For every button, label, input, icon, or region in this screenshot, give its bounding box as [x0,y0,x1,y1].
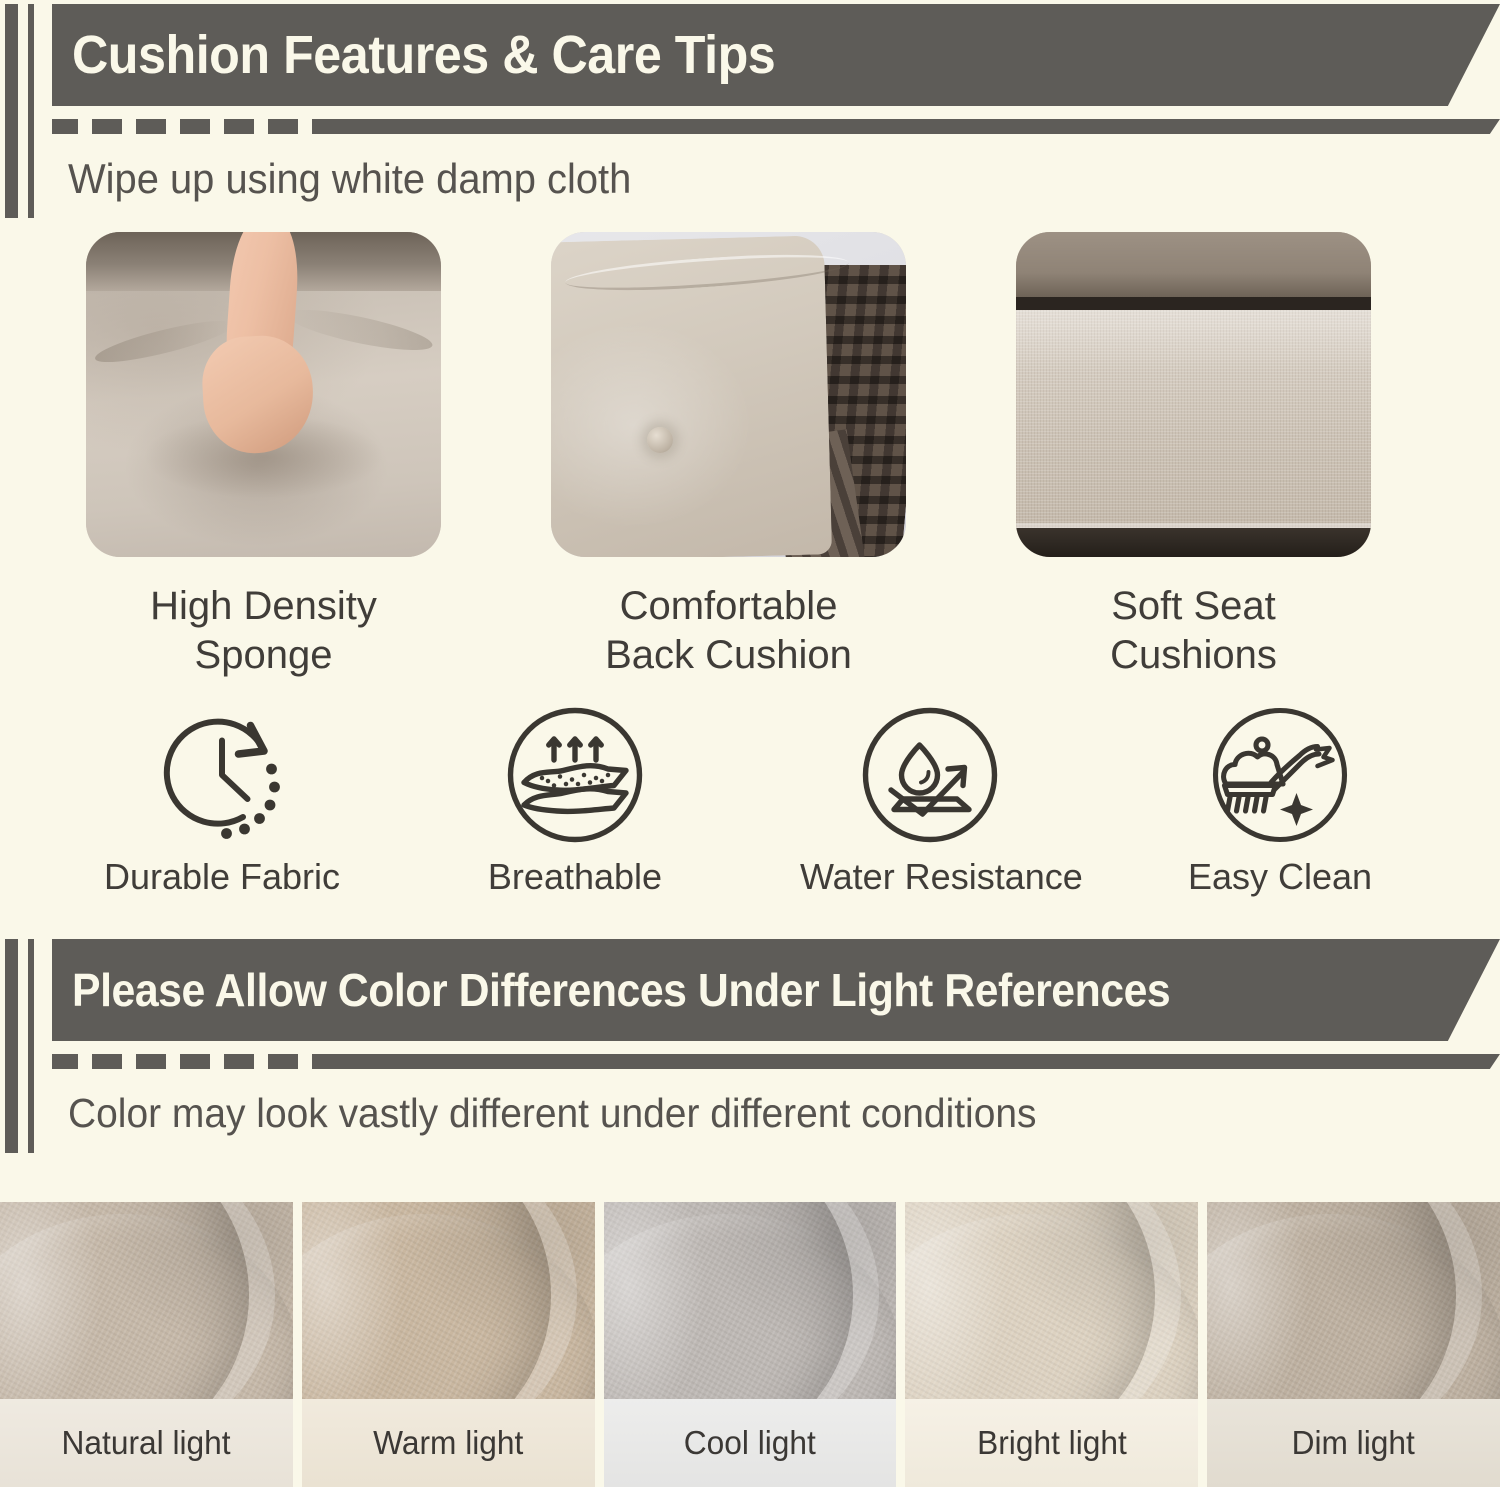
feature-caption-3: Soft Seat Cushions [1016,582,1371,680]
swatch-label-band-natural-light: Natural light [0,1399,293,1487]
swatch-label-cool-light: Cool light [684,1424,816,1462]
hand-pressing-cushion-photo [86,232,441,557]
dash-segment [136,1054,166,1069]
feature-icon-label-easy-clean: Easy Clean [1150,856,1410,898]
swatch-warm-light: Warm light [302,1202,595,1487]
swatch-cool-light: Cool light [604,1202,897,1487]
seat-cushion-fabric-photo [1016,232,1371,557]
feature-icon-item-durable-fabric: Durable Fabric [92,700,352,898]
dash-segment [224,1054,254,1069]
dash-segment [92,1054,122,1069]
swatch-label-bright-light: Bright light [977,1424,1127,1462]
swatch-fabric-warm-light [302,1202,595,1399]
swatch-fabric-dim-light [1207,1202,1500,1399]
swatch-label-band-bright-light: Bright light [905,1399,1198,1487]
feature-caption-3-line2: Cushions [1016,631,1371,680]
section-two-dash-divider [52,1054,1500,1069]
feature-icon-item-breathable: Breathable [445,700,705,898]
water-droplet-repel-icon [855,700,1005,850]
swatch-label-natural-light: Natural light [62,1424,231,1462]
swatch-natural-light: Natural light [0,1202,293,1487]
left-rail-thick-2 [5,939,18,1153]
section-two-banner: Please Allow Color Differences Under Lig… [52,939,1500,1041]
feature-icon-item-water-resistance: Water Resistance [800,700,1060,898]
infographic-page: Cushion Features & Care Tips Wipe up usi… [0,0,1500,1487]
dash-segment [224,119,254,134]
section-two-subtitle: Color may look vastly different under di… [68,1090,1037,1137]
swatch-label-dim-light: Dim light [1292,1424,1415,1462]
feature-caption-2-line2: Back Cushion [551,631,906,680]
swatch-label-warm-light: Warm light [373,1424,523,1462]
feature-caption-2: Comfortable Back Cushion [551,582,906,680]
feature-caption-3-line1: Soft Seat [1016,582,1371,631]
dash-solid-segment [312,119,1500,134]
swatch-label-band-cool-light: Cool light [604,1399,897,1487]
swatch-fabric-cool-light [604,1202,897,1399]
left-rail-thin-2 [28,939,34,1153]
dash-segment [52,119,78,134]
section-one-dash-divider [52,119,1500,134]
left-rail-thick [5,4,18,218]
swatch-dim-light: Dim light [1207,1202,1500,1487]
feature-icon-label-breathable: Breathable [445,856,705,898]
feature-photo-seat-cushion [1016,232,1371,557]
dash-segment [136,119,166,134]
dash-solid-segment [312,1054,1500,1069]
dash-segment [92,119,122,134]
section-one-banner-title: Cushion Features & Care Tips [72,24,775,86]
swatch-label-band-warm-light: Warm light [302,1399,595,1487]
swatch-label-band-dim-light: Dim light [1207,1399,1500,1487]
feature-caption-2-line1: Comfortable [551,582,906,631]
feature-icon-item-easy-clean: Easy Clean [1150,700,1410,898]
feature-caption-1-line2: Sponge [86,631,441,680]
breathable-layers-icon [500,700,650,850]
section-one-banner: Cushion Features & Care Tips [52,4,1500,106]
section-one-subtitle: Wipe up using white damp cloth [68,155,631,203]
tufted-back-cushion-photo [551,232,906,557]
dash-segment [180,1054,210,1069]
dash-segment [52,1054,78,1069]
color-swatch-strip: Natural light Warm light Cool light [0,1202,1500,1487]
swatch-bright-light: Bright light [905,1202,1198,1487]
swatch-fabric-natural-light [0,1202,293,1399]
feature-photo-back-cushion [551,232,906,557]
feature-caption-1: High Density Sponge [86,582,441,680]
dash-segment [268,119,298,134]
dash-segment [180,119,210,134]
feature-icon-label-water-resistance: Water Resistance [800,856,1060,898]
left-rail-thin [28,4,34,218]
feature-photo-high-density-sponge [86,232,441,557]
dash-segment [268,1054,298,1069]
feature-caption-1-line1: High Density [86,582,441,631]
brush-cleaning-icon [1205,700,1355,850]
swatch-fabric-bright-light [905,1202,1198,1399]
feature-icon-label-durable-fabric: Durable Fabric [92,856,352,898]
section-two-banner-title: Please Allow Color Differences Under Lig… [72,963,1170,1017]
clock-arrow-icon [147,700,297,850]
